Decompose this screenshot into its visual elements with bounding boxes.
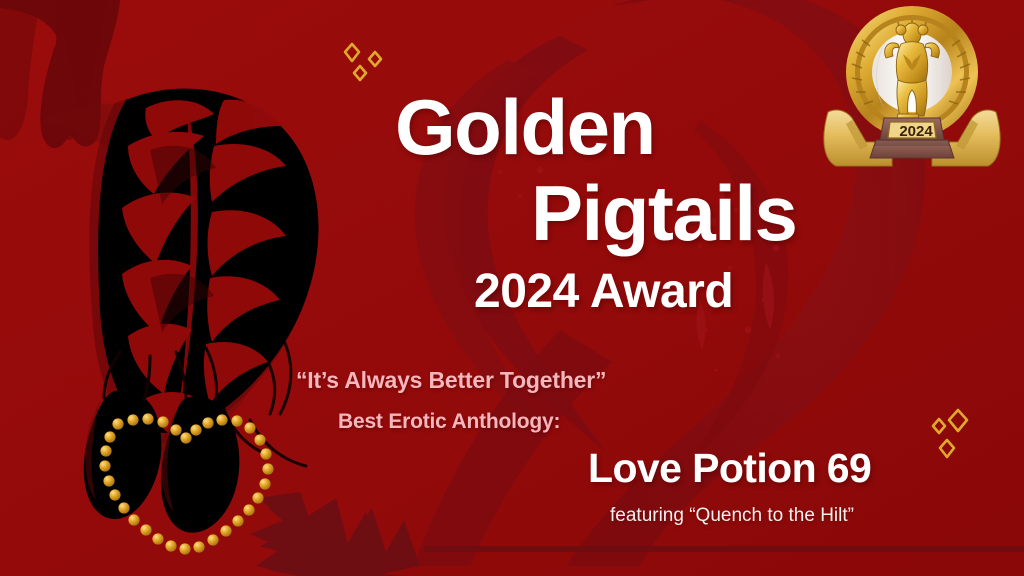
badge-year-label: 2024 <box>893 123 939 140</box>
poster-canvas: Golden Pigtails 2024 Award “It’s Always … <box>0 0 1024 576</box>
award-title-line-2: Pigtails <box>531 174 796 252</box>
award-title-line-3: 2024 Award <box>474 268 733 316</box>
award-category: Best Erotic Anthology: <box>338 410 560 434</box>
bottom-divider <box>424 546 1024 552</box>
award-tagline: “It’s Always Better Together” <box>296 367 606 394</box>
winning-book-title: Love Potion 69 <box>588 445 871 492</box>
award-title-line-1: Golden <box>395 88 655 166</box>
featuring-story: featuring “Quench to the Hilt” <box>610 505 854 527</box>
